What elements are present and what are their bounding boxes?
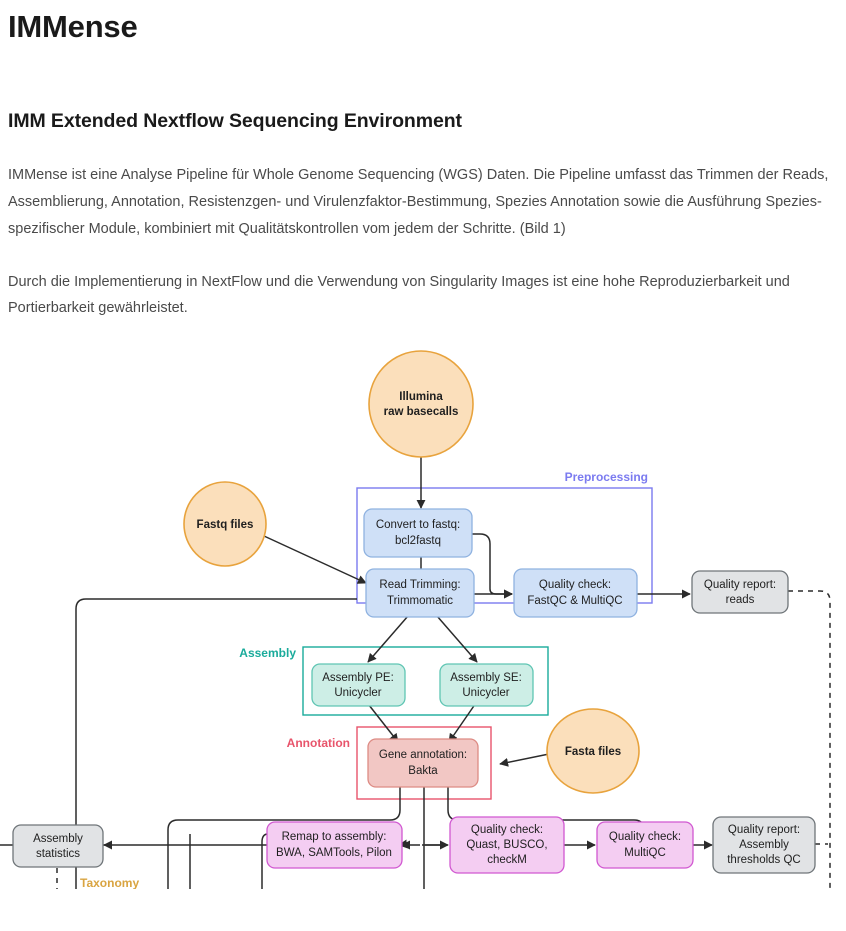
- node-report-assembly-line2: Assembly: [739, 839, 789, 851]
- node-geneannotation-line2: Bakta: [408, 765, 438, 777]
- node-convert-to-fastq[interactable]: Convert to fastq: bcl2fastq: [364, 509, 472, 557]
- page-title: IMMense: [8, 8, 832, 47]
- node-trimming-line1: Read Trimming:: [379, 579, 460, 591]
- edge-fastafiles-to-geneannotation: [500, 754, 549, 764]
- node-quality-report-reads[interactable]: Quality report: reads: [692, 571, 788, 613]
- node-illumina-raw-basecalls[interactable]: Illumina raw basecalls: [369, 351, 473, 457]
- pipeline-diagram: Preprocessing Assembly Annotation Taxono…: [0, 344, 846, 889]
- node-quast-line3: checkM: [487, 854, 527, 866]
- node-geneannotation-line1: Gene annotation:: [379, 749, 467, 761]
- node-convert-line1: Convert to fastq:: [376, 519, 460, 531]
- node-gene-annotation[interactable]: Gene annotation: Bakta: [368, 739, 478, 787]
- group-label-assembly: Assembly: [239, 646, 296, 660]
- node-assembly-stats-line2: statistics: [36, 848, 80, 860]
- node-assembly-pe[interactable]: Assembly PE: Unicycler: [312, 664, 405, 706]
- node-trimming-line2: Trimmomatic: [387, 595, 453, 607]
- node-qcreads-line1: Quality check:: [539, 579, 611, 591]
- node-assembly-statistics[interactable]: Assembly statistics: [13, 825, 103, 867]
- node-quality-check-quast[interactable]: Quality check: Quast, BUSCO, checkM: [450, 817, 564, 873]
- node-assembly-se[interactable]: Assembly SE: Unicycler: [440, 664, 533, 706]
- node-assemblype-line2: Unicycler: [334, 687, 381, 699]
- node-qcreads-line2: FastQC & MultiQC: [527, 595, 622, 607]
- node-assemblyse-line1: Assembly SE:: [450, 672, 522, 684]
- node-report-reads-line2: reads: [726, 594, 755, 606]
- node-remap-line2: BWA, SAMTools, Pilon: [276, 847, 392, 859]
- edge-right-into-remap: [399, 836, 440, 845]
- node-multiqc-line2: MultiQC: [624, 847, 666, 859]
- node-convert-line2: bcl2fastq: [395, 535, 441, 547]
- node-illumina-line1: Illumina: [399, 391, 443, 403]
- node-quast-line1: Quality check:: [471, 824, 543, 836]
- node-quality-check-fastqc[interactable]: Quality check: FastQC & MultiQC: [514, 569, 637, 617]
- paragraph-reproducibility: Durch die Implementierung in NextFlow un…: [8, 269, 832, 323]
- group-label-annotation: Annotation: [287, 736, 350, 750]
- node-remap-line1: Remap to assembly:: [282, 831, 387, 843]
- page-subtitle: IMM Extended Nextflow Sequencing Environ…: [8, 109, 832, 134]
- node-assembly-stats-line1: Assembly: [33, 833, 83, 845]
- paragraph-intro: IMMense ist eine Analyse Pipeline für Wh…: [8, 162, 832, 242]
- node-read-trimming[interactable]: Read Trimming: Trimmomatic: [366, 569, 474, 617]
- page-root: IMMense IMM Extended Nextflow Sequencing…: [0, 8, 846, 931]
- node-assemblype-line1: Assembly PE:: [322, 672, 394, 684]
- group-label-taxonomy: Taxonomy: [80, 876, 139, 889]
- node-assemblyse-line2: Unicycler: [462, 687, 509, 699]
- node-fasta-files-label: Fasta files: [565, 746, 621, 758]
- node-report-assembly-line1: Quality report:: [728, 824, 800, 836]
- document-body: IMMense IMM Extended Nextflow Sequencing…: [0, 8, 846, 322]
- node-quality-check-multiqc[interactable]: Quality check: MultiQC: [597, 822, 693, 868]
- node-multiqc-line1: Quality check:: [609, 831, 681, 843]
- node-quality-report-assembly[interactable]: Quality report: Assembly thresholds QC: [713, 817, 815, 873]
- node-fastq-files-label: Fastq files: [197, 519, 254, 531]
- node-quast-line2: Quast, BUSCO,: [466, 839, 547, 851]
- node-fastq-files[interactable]: Fastq files: [184, 482, 266, 566]
- node-illumina-line2: raw basecalls: [384, 406, 459, 418]
- node-report-assembly-line3: thresholds QC: [727, 854, 801, 866]
- node-remap-to-assembly[interactable]: Remap to assembly: BWA, SAMTools, Pilon: [267, 822, 402, 868]
- node-fasta-files[interactable]: Fasta files: [547, 709, 639, 793]
- node-report-reads-line1: Quality report:: [704, 579, 776, 591]
- group-label-preprocessing: Preprocessing: [565, 470, 648, 484]
- edge-fastqfiles-to-trimming: [264, 536, 366, 583]
